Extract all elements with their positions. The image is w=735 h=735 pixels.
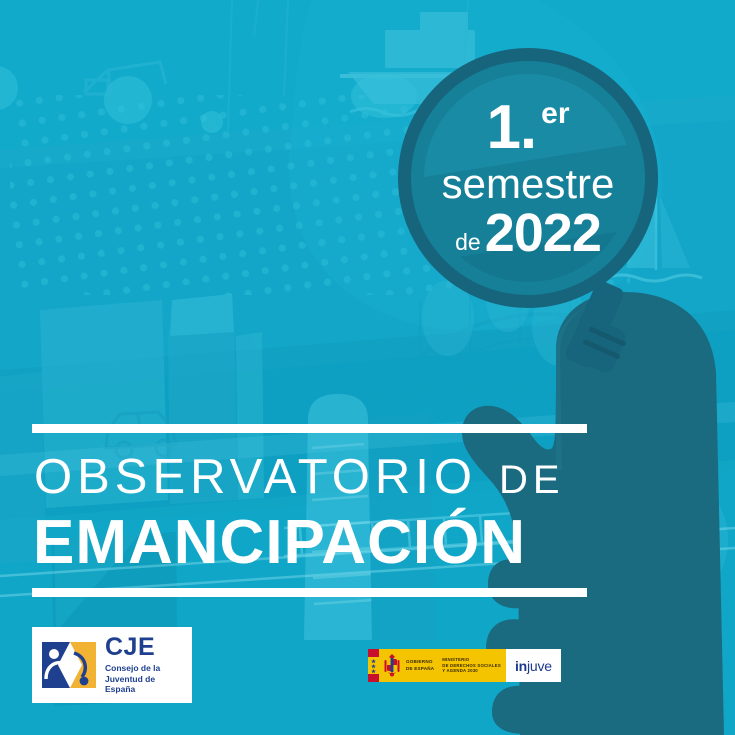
semester-label: 1. er semestre de 2022 xyxy=(398,48,658,308)
cje-acronym: CJE xyxy=(105,635,160,660)
page-title-line2: EMANCIPACIÓN xyxy=(33,507,592,578)
year-row: de 2022 xyxy=(455,206,601,260)
gobierno-label: GOBIERNO DE ESPAÑA xyxy=(406,659,434,671)
cje-fullname-line3: España xyxy=(105,684,160,695)
period-label: semestre xyxy=(442,163,615,205)
title-rule-bottom xyxy=(32,588,587,597)
poster-title-block: OBSERVATORIO DE EMANCIPACIÓN xyxy=(32,424,592,597)
ordinal-number: 1. xyxy=(486,97,536,159)
cje-wordmark: CJE Consejo de la Juventud de España xyxy=(105,635,160,695)
magnifier-glass-icon: 1. er semestre de 2022 xyxy=(398,48,658,308)
ministerio-label: MINISTERIO DE DERECHOS SOCIALES Y AGENDA… xyxy=(442,657,501,674)
page-title-line1: OBSERVATORIO DE xyxy=(34,449,592,505)
ordinal-suffix: er xyxy=(541,99,569,129)
spain-flag-icon xyxy=(368,649,379,682)
injuve-name-rest: juve xyxy=(527,658,552,674)
poster-canvas: 1. er semestre de 2022 OBSERVATORIO DE E… xyxy=(0,0,735,735)
government-logo-bar[interactable]: GOBIERNO DE ESPAÑA MINISTERIO DE DERECHO… xyxy=(368,649,561,682)
spain-coat-of-arms-icon xyxy=(382,653,402,679)
title-word-observatorio: OBSERVATORIO xyxy=(34,449,477,505)
injuve-logo[interactable]: injuve xyxy=(506,649,561,682)
cje-fullname-line1: Consejo de la xyxy=(105,663,160,674)
of-word: de xyxy=(455,231,481,254)
ordinal-row: 1. er xyxy=(486,97,569,159)
title-rule-top xyxy=(32,424,587,433)
title-word-de: DE xyxy=(499,458,565,503)
cje-person-logo-icon xyxy=(40,639,98,691)
cje-fullname-line2: Juventud de xyxy=(105,674,160,685)
gobierno-label-line1: GOBIERNO xyxy=(406,659,434,665)
ministerio-line3: Y AGENDA 2030 xyxy=(442,668,501,674)
cje-fullname: Consejo de la Juventud de España xyxy=(105,663,160,695)
gobierno-de-espana-logo: GOBIERNO DE ESPAÑA MINISTERIO DE DERECHO… xyxy=(368,649,506,682)
gobierno-label-line2: DE ESPAÑA xyxy=(406,666,434,672)
year-value: 2022 xyxy=(485,206,601,260)
cje-logo[interactable]: CJE Consejo de la Juventud de España xyxy=(32,627,192,703)
injuve-name-bold: in xyxy=(515,658,527,674)
